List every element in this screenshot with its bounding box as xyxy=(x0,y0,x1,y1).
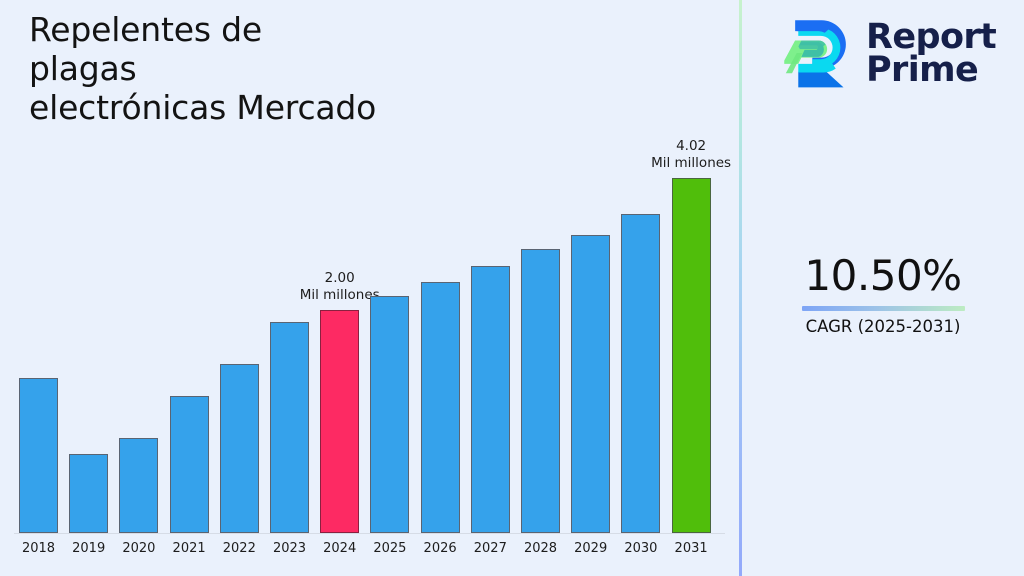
bar-2024[interactable]: 2.00 Mil millones xyxy=(320,310,359,533)
x-tick-2021: 2021 xyxy=(161,541,217,556)
bar-2027[interactable] xyxy=(471,266,510,533)
brand-panel: Report Prime 10.50% CAGR (2025-2031) xyxy=(742,0,1024,576)
bar-2030[interactable] xyxy=(621,214,660,533)
x-tick-2023: 2023 xyxy=(262,541,318,556)
cagr-value: 10.50% xyxy=(742,252,1024,300)
bar-2028[interactable] xyxy=(521,249,560,533)
cagr-block: 10.50% CAGR (2025-2031) xyxy=(742,252,1024,337)
bar-rect-2029[interactable] xyxy=(571,235,610,533)
bar-2020[interactable] xyxy=(119,438,158,533)
bar-2031[interactable]: 4.02 Mil millones xyxy=(672,178,711,533)
report-prime-logo: Report Prime xyxy=(778,10,1002,96)
chart-panel: Repelentes de plagas electrónicas Mercad… xyxy=(0,0,740,576)
bar-rect-2027[interactable] xyxy=(471,266,510,533)
x-tick-2026: 2026 xyxy=(412,541,468,556)
bar-2018[interactable] xyxy=(19,378,58,533)
report-prime-logo-mark xyxy=(778,14,856,92)
x-tick-2027: 2027 xyxy=(462,541,518,556)
x-tick-2028: 2028 xyxy=(513,541,569,556)
bar-2019[interactable] xyxy=(69,454,108,533)
bar-rect-2026[interactable] xyxy=(421,282,460,533)
bar-2026[interactable] xyxy=(421,282,460,533)
bar-rect-2020[interactable] xyxy=(119,438,158,533)
bar-rect-2028[interactable] xyxy=(521,249,560,533)
x-axis-line xyxy=(14,533,725,534)
bar-rect-2019[interactable] xyxy=(69,454,108,533)
x-tick-2024: 2024 xyxy=(312,541,368,556)
cagr-caption: CAGR (2025-2031) xyxy=(742,317,1024,337)
bar-2023[interactable] xyxy=(270,322,309,533)
x-tick-2029: 2029 xyxy=(563,541,619,556)
x-tick-2022: 2022 xyxy=(211,541,267,556)
logo-line-2: Prime xyxy=(866,54,996,87)
bar-rect-2021[interactable] xyxy=(170,396,209,533)
bar-2025[interactable] xyxy=(370,296,409,533)
infographic-page: Repelentes de plagas electrónicas Mercad… xyxy=(0,0,1024,576)
bar-2029[interactable] xyxy=(571,235,610,533)
x-tick-2031: 2031 xyxy=(663,541,719,556)
x-tick-2019: 2019 xyxy=(61,541,117,556)
bar-rect-2024[interactable] xyxy=(320,310,359,533)
bar-2022[interactable] xyxy=(220,364,259,533)
bar-rect-2023[interactable] xyxy=(270,322,309,533)
logo-wordmark: Report Prime xyxy=(866,19,996,87)
bar-rect-2030[interactable] xyxy=(621,214,660,533)
x-tick-2025: 2025 xyxy=(362,541,418,556)
cagr-divider-rule xyxy=(802,306,965,311)
x-tick-2020: 2020 xyxy=(111,541,167,556)
x-tick-2018: 2018 xyxy=(11,541,67,556)
bar-chart: 2018201920202021202220232.00 Mil millone… xyxy=(0,0,740,576)
bar-rect-2018[interactable] xyxy=(19,378,58,533)
bar-rect-2031[interactable] xyxy=(672,178,711,533)
x-tick-2030: 2030 xyxy=(613,541,669,556)
bar-2021[interactable] xyxy=(170,396,209,533)
bar-rect-2025[interactable] xyxy=(370,296,409,533)
bar-rect-2022[interactable] xyxy=(220,364,259,533)
